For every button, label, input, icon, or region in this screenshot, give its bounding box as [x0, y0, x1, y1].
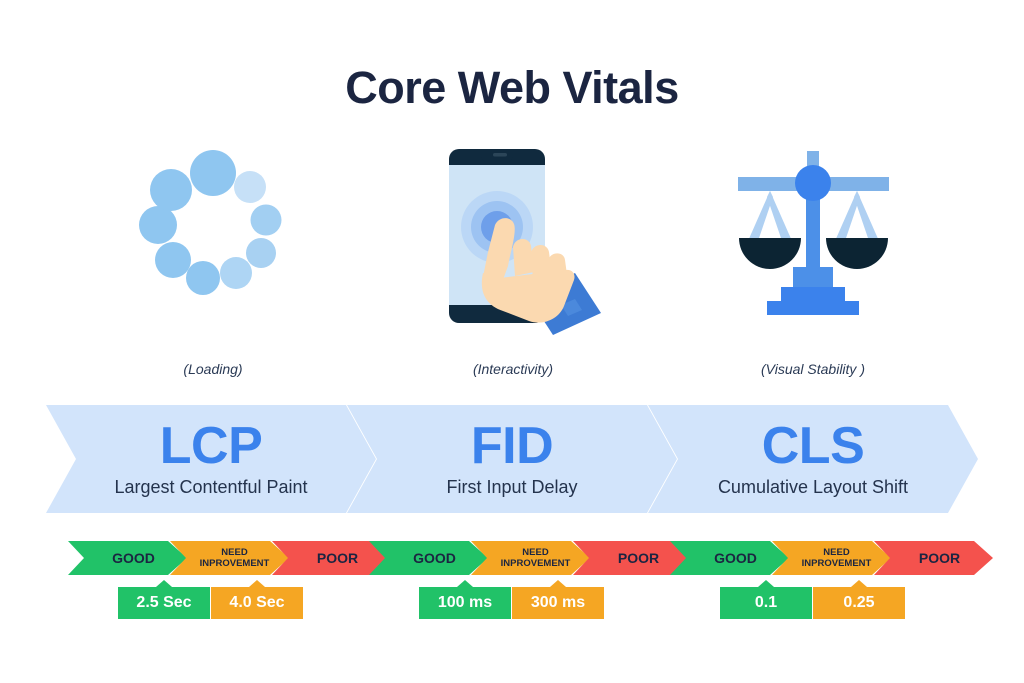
chevron-abbr-fid: FID: [471, 420, 553, 473]
rating-bar-fid: GOOD NEED INPROVEMENT POOR: [369, 541, 655, 575]
rating-label-need-line2-lcp: INPROVEMENT: [200, 558, 270, 569]
phone-tap-icon: [421, 145, 606, 335]
illustration-cls: [663, 145, 963, 345]
rating-label-good-cls: GOOD: [702, 550, 757, 566]
threshold-row-fid: 100 ms 300 ms: [369, 587, 655, 621]
rating-bar-lcp: GOOD NEED INPROVEMENT POOR: [68, 541, 354, 575]
rating-label-need-line1-fid: NEED: [522, 547, 548, 558]
rating-segment-good-lcp[interactable]: GOOD: [68, 541, 187, 575]
metric-chevron-band: LCP Largest Contentful Paint FID First I…: [46, 405, 978, 513]
threshold-good-max-fid[interactable]: 100 ms: [419, 587, 511, 619]
illustration-row: [0, 145, 1024, 345]
rating-label-need-fid: NEED INPROVEMENT: [491, 547, 571, 569]
threshold-good-max-lcp[interactable]: 2.5 Sec: [118, 587, 210, 619]
badge-nub-icon: [758, 580, 774, 587]
page-title: Core Web Vitals: [0, 62, 1024, 114]
rating-bar-cls: GOOD NEED INPROVEMENT POOR: [670, 541, 956, 575]
rating-label-need-lcp: NEED INPROVEMENT: [190, 547, 270, 569]
rating-group-fid: GOOD NEED INPROVEMENT POOR 100 ms 300 ms: [369, 541, 655, 621]
caption-fid: (Interactivity): [363, 361, 663, 377]
rating-label-good-fid: GOOD: [401, 550, 456, 566]
rating-segment-need-fid[interactable]: NEED INPROVEMENT: [471, 541, 590, 575]
illustration-fid: [363, 145, 663, 345]
rating-label-poor-fid: POOR: [606, 550, 659, 566]
rating-group-lcp: GOOD NEED INPROVEMENT POOR 2.5 Sec 4.0 S…: [68, 541, 354, 621]
badge-nub-icon: [550, 580, 566, 587]
rating-label-need-line2-cls: INPROVEMENT: [802, 558, 872, 569]
chevron-fid[interactable]: FID First Input Delay: [347, 405, 677, 513]
chevron-full-fid: First Input Delay: [446, 477, 577, 498]
caption-row: (Loading) (Interactivity) (Visual Stabil…: [0, 361, 1024, 383]
caption-cls: (Visual Stability ): [663, 361, 963, 377]
rating-label-need-line1-lcp: NEED: [221, 547, 247, 558]
rating-label-poor-cls: POOR: [907, 550, 960, 566]
threshold-need-max-label-cls: 0.25: [843, 594, 874, 612]
rating-group-cls: GOOD NEED INPROVEMENT POOR 0.1 0.25: [670, 541, 956, 621]
rating-segment-need-lcp[interactable]: NEED INPROVEMENT: [170, 541, 289, 575]
threshold-row-cls: 0.1 0.25: [670, 587, 956, 621]
rating-segment-poor-cls[interactable]: POOR: [874, 541, 993, 575]
threshold-good-max-label-cls: 0.1: [755, 594, 777, 612]
rating-label-poor-lcp: POOR: [305, 550, 358, 566]
threshold-good-max-cls[interactable]: 0.1: [720, 587, 812, 619]
rating-label-need-line1-cls: NEED: [823, 547, 849, 558]
chevron-abbr-lcp: LCP: [160, 420, 263, 473]
rating-segment-need-cls[interactable]: NEED INPROVEMENT: [772, 541, 891, 575]
rating-segment-good-cls[interactable]: GOOD: [670, 541, 789, 575]
badge-nub-icon: [156, 580, 172, 587]
rating-label-need-cls: NEED INPROVEMENT: [792, 547, 872, 569]
threshold-good-max-label-lcp: 2.5 Sec: [136, 594, 191, 612]
loading-spinner-icon: [133, 145, 293, 305]
chevron-lcp[interactable]: LCP Largest Contentful Paint: [46, 405, 376, 513]
rating-label-good-lcp: GOOD: [100, 550, 155, 566]
rating-segment-good-fid[interactable]: GOOD: [369, 541, 488, 575]
badge-nub-icon: [457, 580, 473, 587]
threshold-need-max-lcp[interactable]: 4.0 Sec: [211, 587, 303, 619]
threshold-row-lcp: 2.5 Sec 4.0 Sec: [68, 587, 354, 621]
chevron-cls[interactable]: CLS Cumulative Layout Shift: [648, 405, 978, 513]
illustration-lcp: [63, 145, 363, 345]
threshold-need-max-cls[interactable]: 0.25: [813, 587, 905, 619]
threshold-need-max-fid[interactable]: 300 ms: [512, 587, 604, 619]
threshold-need-max-label-lcp: 4.0 Sec: [229, 594, 284, 612]
threshold-good-max-label-fid: 100 ms: [438, 594, 492, 612]
caption-lcp: (Loading): [63, 361, 363, 377]
infographic-canvas: Core Web Vitals: [0, 0, 1024, 683]
badge-nub-icon: [249, 580, 265, 587]
chevron-full-cls: Cumulative Layout Shift: [718, 477, 908, 498]
balance-scale-icon: [726, 145, 901, 320]
badge-nub-icon: [851, 580, 867, 587]
rating-label-need-line2-fid: INPROVEMENT: [501, 558, 571, 569]
chevron-abbr-cls: CLS: [762, 420, 865, 473]
threshold-need-max-label-fid: 300 ms: [531, 594, 585, 612]
chevron-full-lcp: Largest Contentful Paint: [114, 477, 307, 498]
